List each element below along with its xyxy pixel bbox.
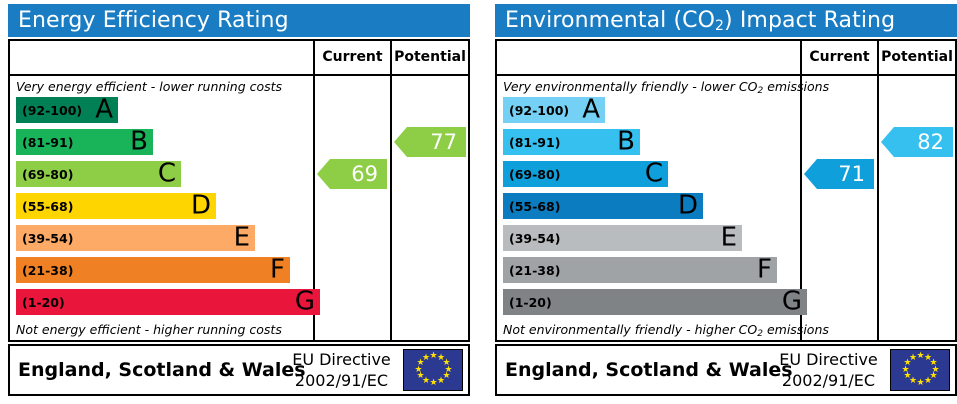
band-letter-label: C xyxy=(158,160,176,186)
eu-star-icon: ★ xyxy=(430,353,437,360)
co2-impact-rating-chart: Environmental (CO2) Impact RatingCurrent… xyxy=(487,0,957,404)
table-header-row: CurrentPotential xyxy=(497,41,955,76)
caption-top: Very environmentally friendly - lower CO… xyxy=(503,78,799,96)
potential-rating-value: 77 xyxy=(430,130,457,154)
current-rating-value: 69 xyxy=(351,162,378,186)
footer-divider xyxy=(497,340,955,342)
band-letter-label: D xyxy=(191,192,211,218)
eu-directive-line-2: 2002/91/EC xyxy=(285,370,398,391)
band-range-label: (39-54) xyxy=(22,225,73,251)
chart-footer: England, Scotland & WalesEU Directive200… xyxy=(495,344,957,396)
band-range-label: (39-54) xyxy=(509,225,560,251)
band-range-label: (21-38) xyxy=(22,257,73,283)
band-range-label: (21-38) xyxy=(509,257,560,283)
footer-region-label: England, Scotland & Wales xyxy=(505,346,793,394)
band-range-label: (92-100) xyxy=(22,97,82,123)
chart-footer: England, Scotland & WalesEU Directive200… xyxy=(8,344,470,396)
band-range-label: (1-20) xyxy=(509,289,552,315)
caption-top: Very energy efficient - lower running co… xyxy=(16,78,312,96)
band-letter-label: E xyxy=(234,224,250,250)
band-range-label: (55-68) xyxy=(22,193,73,219)
current-rating-arrow: 71 xyxy=(804,159,874,189)
band-letter-label: G xyxy=(782,288,802,314)
rating-band-d: (55-68)D xyxy=(503,193,703,219)
eu-directive-line-2: 2002/91/EC xyxy=(772,370,885,391)
band-letter-label: F xyxy=(757,256,772,282)
band-range-label: (81-91) xyxy=(22,129,73,155)
rating-band-f: (21-38)F xyxy=(503,257,777,283)
rating-band-e: (39-54)E xyxy=(16,225,255,251)
rating-band-d: (55-68)D xyxy=(16,193,216,219)
rating-band-a: (92-100)A xyxy=(503,97,605,123)
column-header-current: Current xyxy=(802,41,877,74)
band-letter-label: A xyxy=(95,96,113,122)
caption-bottom: Not environmentally friendly - higher CO… xyxy=(503,321,799,339)
energy-efficiency-rating-chart: Energy Efficiency RatingCurrentPotential… xyxy=(0,0,470,404)
column-header-current: Current xyxy=(315,41,390,74)
rating-band-a: (92-100)A xyxy=(16,97,118,123)
band-letter-label: B xyxy=(617,128,635,154)
band-range-label: (55-68) xyxy=(509,193,560,219)
current-rating-value: 71 xyxy=(838,162,865,186)
eu-star-icon: ★ xyxy=(917,353,924,360)
rating-band-c: (69-80)C xyxy=(16,161,181,187)
column-divider-potential xyxy=(390,41,392,340)
band-range-label: (92-100) xyxy=(509,97,569,123)
eu-directive-line-1: EU Directive xyxy=(285,349,398,370)
rating-band-c: (69-80)C xyxy=(503,161,668,187)
eu-star-icon: ★ xyxy=(917,380,924,387)
footer-region-label: England, Scotland & Wales xyxy=(18,346,306,394)
band-range-label: (69-80) xyxy=(509,161,560,187)
footer-eu-directive-label: EU Directive2002/91/EC xyxy=(772,349,885,391)
band-letter-label: F xyxy=(270,256,285,282)
rating-band-g: (1-20)G xyxy=(503,289,807,315)
rating-band-e: (39-54)E xyxy=(503,225,742,251)
potential-rating-value: 82 xyxy=(917,130,944,154)
rating-bands: (92-100)A(81-91)B(69-80)C(55-68)D(39-54)… xyxy=(497,97,800,319)
band-range-label: (81-91) xyxy=(509,129,560,155)
epc-chart-page: Energy Efficiency RatingCurrentPotential… xyxy=(0,0,957,404)
current-rating-arrow: 69 xyxy=(317,159,387,189)
rating-band-b: (81-91)B xyxy=(16,129,153,155)
rating-band-f: (21-38)F xyxy=(16,257,290,283)
eu-star-icon: ★ xyxy=(422,355,429,362)
band-letter-label: A xyxy=(582,96,600,122)
band-letter-label: D xyxy=(678,192,698,218)
rating-bands: (92-100)A(81-91)B(69-80)C(55-68)D(39-54)… xyxy=(10,97,313,319)
table-header-row: CurrentPotential xyxy=(10,41,468,76)
column-header-potential: Potential xyxy=(879,41,955,74)
rating-table: CurrentPotentialVery environmentally fri… xyxy=(495,39,957,342)
rating-band-g: (1-20)G xyxy=(16,289,320,315)
eu-star-icon: ★ xyxy=(437,378,444,385)
band-range-label: (69-80) xyxy=(22,161,73,187)
footer-divider xyxy=(10,340,468,342)
eu-flag-icon: ★★★★★★★★★★★★ xyxy=(890,349,950,391)
potential-rating-arrow: 82 xyxy=(881,127,953,157)
band-range-label: (1-20) xyxy=(22,289,65,315)
eu-star-icon: ★ xyxy=(909,355,916,362)
eu-star-icon: ★ xyxy=(924,378,931,385)
rating-table: CurrentPotentialVery energy efficient - … xyxy=(8,39,470,342)
column-divider-potential xyxy=(877,41,879,340)
eu-flag-icon: ★★★★★★★★★★★★ xyxy=(403,349,463,391)
chart-title: Environmental (CO2) Impact Rating xyxy=(495,4,957,37)
band-letter-label: C xyxy=(645,160,663,186)
eu-star-icon: ★ xyxy=(430,380,437,387)
band-letter-label: E xyxy=(721,224,737,250)
band-letter-label: G xyxy=(295,288,315,314)
potential-rating-arrow: 77 xyxy=(394,127,466,157)
column-header-potential: Potential xyxy=(392,41,468,74)
eu-directive-line-1: EU Directive xyxy=(772,349,885,370)
footer-eu-directive-label: EU Directive2002/91/EC xyxy=(285,349,398,391)
band-letter-label: B xyxy=(130,128,148,154)
chart-title: Energy Efficiency Rating xyxy=(8,4,470,37)
rating-band-b: (81-91)B xyxy=(503,129,640,155)
caption-bottom: Not energy efficient - higher running co… xyxy=(16,321,312,339)
